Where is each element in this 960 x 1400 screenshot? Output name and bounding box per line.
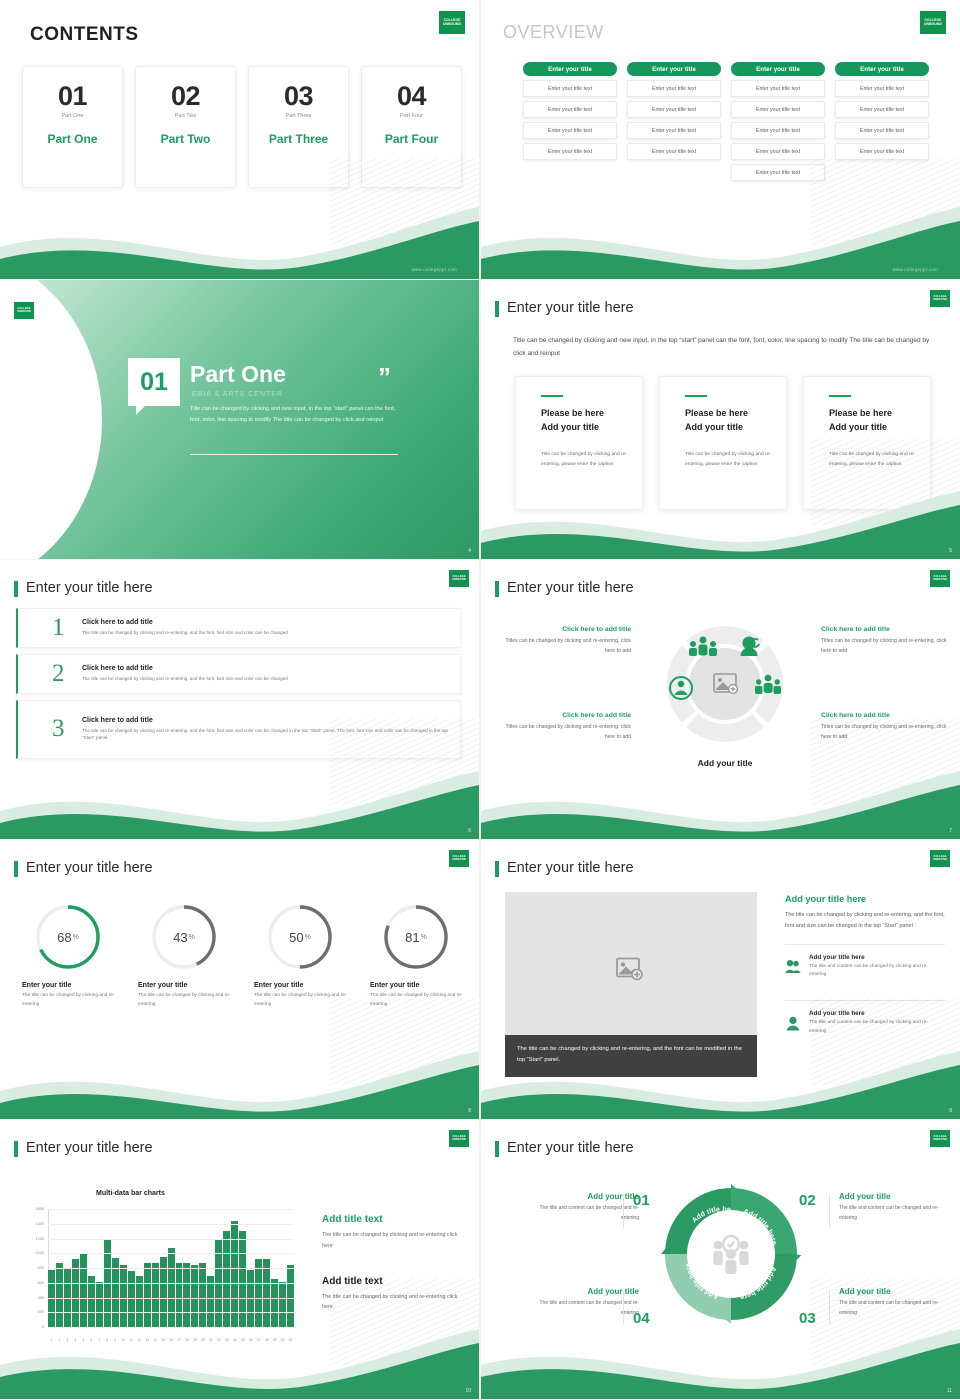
bar[interactable] [191,1265,198,1328]
card-heading: Please be here Add your title [829,407,930,434]
logo-line-2: UNBOUND [933,299,947,302]
logo-line-2: UNBOUND [17,311,31,314]
quadrant-divider [623,1290,624,1324]
gridline: 0 [48,1327,294,1328]
wave-decor [0,761,479,839]
quadrant-divider [829,1290,830,1324]
left-curve-decor [0,280,102,559]
bar[interactable] [144,1263,151,1328]
x-axis-tick: 14 [152,1338,159,1342]
card-number: 02 [136,81,235,112]
overview-item[interactable]: Enter your title text [627,122,721,139]
feature-card[interactable]: Please be here Add your title Title can … [515,376,643,510]
right-body-2: The title can be changed by clicking and… [322,1292,464,1314]
page-title: Enter your title here [507,580,634,596]
list-body: The title can be changed by clicking and… [82,727,450,743]
column-header-pill[interactable]: Enter your title [835,62,929,76]
logo-line-2: UNBOUND [924,23,942,27]
x-axis-tick: 15 [160,1338,167,1342]
wave-decor [481,201,960,279]
list-number: 2 [52,660,65,688]
feature-card[interactable]: Please be here Add your title Title can … [659,376,787,510]
section-number-badge: 01 [128,358,180,406]
quadrant-body: The title and content can be changed and… [523,1299,639,1319]
x-axis-tick: 1 [48,1338,55,1342]
card-heading-line1: Please be here [685,408,748,418]
y-axis-tick: 1000 [36,1251,44,1255]
x-axis-tick: 12 [136,1338,143,1342]
list-heading: Click here to add title [82,619,450,626]
block-heading: Click here to add title [503,712,631,719]
slide-deck: CONTENTS COLLEGE UNBOUND 01 Part One Par… [0,0,960,1399]
page-title: OVERVIEW [503,22,604,43]
y-axis-tick: 1200 [36,1237,44,1241]
x-axis-tick: 7 [96,1338,103,1342]
ring-value: 68% [33,902,103,972]
ring-list: 68% Enter your title The title can be ch… [16,902,468,1010]
ring-unit: % [73,934,79,941]
progress-ring: 81% [381,902,451,972]
page-number: 7 [949,828,952,834]
quote-mark-icon: ” [378,362,391,393]
quadrant-text-01[interactable]: Add your title The title and content can… [523,1192,639,1224]
page-number: 10 [465,1388,471,1394]
x-axis-tick: 16 [168,1338,175,1342]
card-body: Title can be changed by clicking and re-… [829,450,917,471]
quadrant-text-02[interactable]: Add your title The title and content can… [839,1192,955,1224]
right-heading-1: Add title text [322,1214,464,1225]
x-axis-tick: 29 [271,1338,278,1342]
wave-decor [481,1321,960,1399]
ring-value: 81% [381,902,451,972]
column-header-pill[interactable]: Enter your title [523,62,617,76]
user-icon [785,1010,801,1037]
bar[interactable] [56,1263,63,1328]
donut-label-bottom-left[interactable]: Click here to add title Titles can be ch… [503,712,631,743]
list-number: 1 [52,614,65,642]
bar[interactable] [152,1263,159,1328]
donut-label-bottom-right[interactable]: Click here to add title Titles can be ch… [821,712,949,743]
logo-line-2: UNBOUND [933,1139,947,1142]
gridline: 400 [48,1298,294,1299]
card-heading-line1: Please be here [541,408,604,418]
y-axis-tick: 800 [38,1266,44,1270]
card-heading-line1: Please be here [829,408,892,418]
list-number: 3 [52,715,65,743]
watermark: www.collegeppt.com [412,267,457,272]
bar[interactable] [168,1248,175,1328]
bar[interactable] [48,1270,55,1328]
x-axis-tick: 24 [231,1338,238,1342]
logo-line-2: UNBOUND [452,579,466,582]
x-axis-tick: 2 [56,1338,63,1342]
wave-decor [0,201,479,279]
column-body: The title can be changed by clicking and… [785,910,945,933]
brand-logo: COLLEGE UNBOUND [449,850,469,867]
ring-cell[interactable]: 68% Enter your title The title can be ch… [16,902,120,1010]
overview-column: Enter your title Enter your title text E… [835,62,929,181]
contents-card[interactable]: 02 Part Two Part Two [135,66,236,188]
card-number: 01 [23,81,122,112]
list-item[interactable]: 3 Click here to add title The title can … [16,700,461,760]
ring-heading: Enter your title [364,982,468,989]
y-axis-tick: 1400 [36,1222,44,1226]
quadrant-heading: Add your title [839,1287,955,1296]
bar-series [48,1210,294,1328]
block-heading: Click here to add title [503,626,631,633]
quadrant-heading: Add your title [523,1192,639,1201]
x-axis-tick: 25 [239,1338,246,1342]
brand-logo: COLLEGE UNBOUND [930,850,950,867]
y-axis-tick: 200 [38,1310,44,1314]
accent-dash [685,395,707,397]
y-axis-tick: 400 [38,1296,44,1300]
bar[interactable] [128,1271,135,1328]
overview-item[interactable]: Enter your title text [731,143,825,160]
quadrant-body: The title and content can be changed and… [523,1204,639,1224]
quadrant-body: The title and content can be changed and… [839,1299,955,1319]
gridline: 800 [48,1268,294,1269]
card-heading: Please be here Add your title [685,407,786,434]
bar[interactable] [80,1254,87,1328]
card-list: Please be here Add your title Title can … [515,376,931,510]
brand-logo: COLLEGE UNBOUND [930,1130,950,1147]
quadrant-text-04[interactable]: Add your title The title and content can… [523,1287,639,1319]
title-accent-bar [14,581,18,597]
ring-value: 43% [149,902,219,972]
title-accent-bar [14,1141,18,1157]
image-placeholder-icon [616,958,646,989]
slide-numbered-list[interactable]: Enter your title here COLLEGE UNBOUND 1 … [0,560,479,839]
page-title: CONTENTS [30,24,139,46]
x-axis-tick: 13 [144,1338,151,1342]
contents-card[interactable]: 03 Part Three Part Three [248,66,349,188]
list-text: Add your title here The title and conten… [809,954,945,981]
right-body-1: The title can be changed by clicking and… [322,1230,464,1252]
page-title: Enter your title here [26,580,153,596]
slide-cycle-diagram[interactable]: Enter your title here COLLEGE UNBOUND Ad… [481,1120,960,1399]
contents-card-list: 01 Part One Part One 02 Part Two Part Tw… [22,66,462,188]
overview-item[interactable]: Enter your title text [627,80,721,97]
card-body: Title can be changed by clicking and re-… [685,450,773,471]
slide-donut-cluster[interactable]: Enter your title here COLLEGE UNBOUND Cl… [481,560,960,839]
bar[interactable] [199,1263,206,1328]
card-heading: Please be here Add your title [541,407,642,434]
donut-diagram[interactable] [659,618,791,750]
progress-ring: 43% [149,902,219,972]
overview-grid: Enter your title Enter your title text E… [523,62,929,181]
list-container: 1 Click here to add title The title can … [16,608,461,765]
card-heading-line2: Add your title [541,422,599,432]
y-axis-tick: 1600 [36,1207,44,1211]
card-label: Part One [23,132,122,146]
quadrant-number-04: 04 [633,1310,650,1327]
ring-heading: Enter your title [132,982,236,989]
list-heading: Add your title here [809,1010,945,1017]
bar[interactable] [72,1259,79,1328]
list-heading: Click here to add title [82,717,450,724]
x-axis-tick: 10 [120,1338,127,1342]
logo-line-2: UNBOUND [933,579,947,582]
gridline: 1400 [48,1224,294,1225]
logo-line-2: UNBOUND [452,859,466,862]
ring-unit: % [305,934,311,941]
card-sub: Part One [23,113,122,119]
block-heading: Click here to add title [821,626,949,633]
y-axis-tick: 600 [38,1281,44,1285]
overview-column: Enter your title Enter your title text E… [731,62,825,181]
x-axis-tick: 21 [207,1338,214,1342]
list-item[interactable]: Add your title here The title and conten… [785,1001,945,1046]
slide-three-cards[interactable]: Enter your title here COLLEGE UNBOUND Ti… [481,280,960,559]
x-axis-tick: 26 [247,1338,254,1342]
x-axis-tick: 6 [88,1338,95,1342]
gridline: 1000 [48,1253,294,1254]
accent-dash [541,395,563,397]
wave-decor [481,761,960,839]
section-body: Title can be changed by clicking and new… [190,404,400,426]
list-body: The title can be changed by clicking and… [82,629,450,637]
hatch-decor [329,999,479,1085]
card-label: Part Four [362,132,461,146]
list-heading: Add your title here [809,954,945,961]
list-body: The title and content can be changed by … [809,1019,945,1037]
page-number: 6 [468,828,471,834]
x-axis-tick: 17 [176,1338,183,1342]
logo-line-2: UNBOUND [452,1139,466,1142]
list-body: The title and content can be changed by … [809,963,945,981]
divider-rule [190,454,398,455]
list-item[interactable]: 1 Click here to add title The title can … [16,608,461,648]
list-heading: Click here to add title [82,665,450,672]
x-axis-tick: 27 [255,1338,262,1342]
page-number: 11 [947,1388,952,1394]
x-axis-tick: 28 [263,1338,270,1342]
wave-decor [0,1041,479,1119]
overview-item[interactable]: Enter your title text [835,80,929,97]
overview-item[interactable]: Enter your title text [835,122,929,139]
quadrant-divider [623,1194,624,1228]
contents-card[interactable]: 01 Part One Part One [22,66,123,188]
title-accent-bar [495,581,499,597]
x-axis-tick: 22 [215,1338,222,1342]
slide-image-text[interactable]: Enter your title here COLLEGE UNBOUND Th… [481,840,960,1119]
ring-body: The title can be changed by clicking and… [248,992,352,1010]
x-axis-ticks: 1234567891011121314151617181920212223242… [48,1338,294,1342]
overview-item[interactable]: Enter your title text [523,80,617,97]
logo-line-2: UNBOUND [443,23,461,27]
gridline: 200 [48,1312,294,1313]
column-header-pill[interactable]: Enter your title [627,62,721,76]
quadrant-heading: Add your title [839,1192,955,1201]
ring-cell[interactable]: 81% Enter your title The title can be ch… [364,902,468,1010]
bar[interactable] [247,1270,254,1328]
block-body: Titles can be changed by clicking and re… [821,636,949,657]
quadrant-text-03[interactable]: Add your title The title and content can… [839,1287,955,1319]
page-title: Enter your title here [507,300,634,316]
title-accent-bar [495,301,499,317]
bar[interactable] [223,1231,230,1328]
card-sub: Part Three [249,113,348,119]
card-heading-line2: Add your title [829,422,887,432]
list-item[interactable]: 2 Click here to add title The title can … [16,654,461,694]
bar[interactable] [183,1263,190,1328]
card-body: Title can be changed by clicking and re-… [541,450,629,471]
donut-label-top-left[interactable]: Click here to add title Titles can be ch… [503,626,631,657]
overview-item[interactable]: Enter your title text [731,164,825,181]
ring-cell[interactable]: 50% Enter your title The title can be ch… [248,902,352,1010]
overview-item[interactable]: Enter your title text [835,143,929,160]
x-axis-tick: 30 [279,1338,286,1342]
image-caption: The title can be changed by clicking and… [505,1035,757,1077]
x-axis-tick: 5 [80,1338,87,1342]
y-axis-tick: 0 [42,1325,44,1329]
x-axis-tick: 18 [183,1338,190,1342]
card-sub: Part Four [362,113,461,119]
bar[interactable] [255,1259,262,1328]
gridline: 1600 [48,1209,294,1210]
list-item[interactable]: Add your title here The title and conten… [785,945,945,990]
card-number: 03 [249,81,348,112]
quadrant-body: The title and content can be changed and… [839,1204,955,1224]
ring-heading: Enter your title [248,982,352,989]
page-number: 9 [949,1108,952,1114]
x-axis-tick: 4 [72,1338,79,1342]
ghost-caption: EBIA & ARTS CENTER [192,391,283,398]
right-heading-2: Add title text [322,1276,464,1287]
bar[interactable] [64,1269,71,1328]
slide-contents[interactable]: CONTENTS COLLEGE UNBOUND 01 Part One Par… [0,0,479,279]
brand-logo: COLLEGE UNBOUND [449,1130,469,1147]
ring-body: The title can be changed by clicking and… [16,992,120,1010]
slide-overview[interactable]: OVERVIEW COLLEGE UNBOUND Enter your titl… [481,0,960,279]
title-accent-bar [14,861,18,877]
ring-percent: 68 [57,930,71,945]
quadrant-heading: Add your title [523,1287,639,1296]
brand-logo: COLLEGE UNBOUND [439,11,465,34]
brand-logo: COLLEGE UNBOUND [14,302,34,319]
x-axis-tick: 9 [112,1338,119,1342]
overview-column: Enter your title Enter your title text E… [523,62,617,181]
bar[interactable] [120,1265,127,1328]
overview-item[interactable]: Enter your title text [835,101,929,118]
bar[interactable] [176,1263,183,1328]
card-number: 04 [362,81,461,112]
brand-logo: COLLEGE UNBOUND [930,570,950,587]
ring-cell[interactable]: 43% Enter your title The title can be ch… [132,902,236,1010]
quadrant-number-01: 01 [633,1192,650,1209]
card-label: Part Three [249,132,348,146]
page-number: 5 [949,548,952,554]
overview-item[interactable]: Enter your title text [627,101,721,118]
feature-card[interactable]: Please be here Add your title Title can … [803,376,931,510]
x-axis-tick: 11 [128,1338,135,1342]
brand-logo: COLLEGE UNBOUND [930,290,950,307]
overview-item[interactable]: Enter your title text [523,101,617,118]
users-icon [785,954,801,981]
card-sub: Part Two [136,113,235,119]
page-title: Enter your title here [26,1140,153,1156]
x-axis-tick: 31 [287,1338,294,1342]
gridline: 1200 [48,1239,294,1240]
list-body: The title can be changed by clicking and… [82,675,450,683]
x-axis-tick: 19 [191,1338,198,1342]
slide-bar-chart[interactable]: Enter your title here COLLEGE UNBOUND Mu… [0,1120,479,1399]
logo-line-2: UNBOUND [933,859,947,862]
cycle-diagram[interactable]: Add title here Add title here Add title … [655,1178,807,1330]
ring-heading: Enter your title [16,982,120,989]
contents-card[interactable]: 04 Part Four Part Four [361,66,462,188]
overview-item[interactable]: Enter your title text [627,143,721,160]
progress-ring: 68% [33,902,103,972]
ring-unit: % [189,934,195,941]
overview-item[interactable]: Enter your title text [523,143,617,160]
overview-item[interactable]: Enter your title text [523,122,617,139]
progress-ring: 50% [265,902,335,972]
block-body: Titles can be changed by clicking and re… [821,722,949,743]
brand-logo: COLLEGE UNBOUND [449,570,469,587]
page-title: Enter your title here [26,860,153,876]
bar[interactable] [279,1282,286,1328]
block-body: Titles can be changed by clicking and re… [503,722,631,743]
donut-label-top-right[interactable]: Click here to add title Titles can be ch… [821,626,949,657]
slide-progress-rings[interactable]: Enter your title here COLLEGE UNBOUND 68… [0,840,479,1119]
ring-body: The title can be changed by clicking and… [364,992,468,1010]
accent-dash [829,395,851,397]
page-title: Enter your title here [507,1140,634,1156]
overview-item[interactable]: Enter your title text [731,122,825,139]
card-label: Part Two [136,132,235,146]
ring-value: 50% [265,902,335,972]
x-axis-tick: 20 [199,1338,206,1342]
ring-percent: 50 [289,930,303,945]
list-text: Add your title here The title and conten… [809,1010,945,1037]
bar[interactable] [239,1231,246,1328]
section-number: 01 [140,368,168,397]
block-heading: Click here to add title [821,712,949,719]
page-number: 8 [468,1108,471,1114]
x-axis-tick: 8 [104,1338,111,1342]
lead-paragraph: Title can be changed by clicking and new… [513,334,933,360]
page-title: Enter your title here [507,860,634,876]
gridline: 600 [48,1283,294,1284]
overview-column: Enter your title Enter your title text E… [627,62,721,181]
ring-percent: 81 [405,930,419,945]
right-column: Add your title here The title can be cha… [785,894,945,1046]
block-body: Titles can be changed by clicking and re… [503,636,631,657]
diagram-caption: Add your title [647,758,803,768]
title-accent-bar [495,861,499,877]
bar[interactable] [96,1282,103,1328]
card-heading-line2: Add your title [685,422,743,432]
overview-item[interactable]: Enter your title text [731,101,825,118]
title-accent-bar [495,1141,499,1157]
bar[interactable] [263,1259,270,1328]
ring-body: The title can be changed by clicking and… [132,992,236,1010]
bar-chart[interactable]: 16001400120010008006004002000 1234567891… [16,1206,296,1346]
right-column: Add title text The title can be changed … [322,1214,464,1313]
quadrant-divider [829,1194,830,1228]
bar[interactable] [271,1279,278,1328]
overview-item[interactable]: Enter your title text [731,80,825,97]
watermark: www.collegeppt.com [893,267,938,272]
brand-logo: COLLEGE UNBOUND [920,11,946,34]
column-header-pill[interactable]: Enter your title [731,62,825,76]
slide-section-divider[interactable]: COLLEGE UNBOUND 01 Part One EBIA & ARTS … [0,280,479,559]
page-number: 4 [468,548,471,554]
plot-area: 16001400120010008006004002000 [48,1210,294,1328]
column-heading: Add your title here [785,894,945,904]
